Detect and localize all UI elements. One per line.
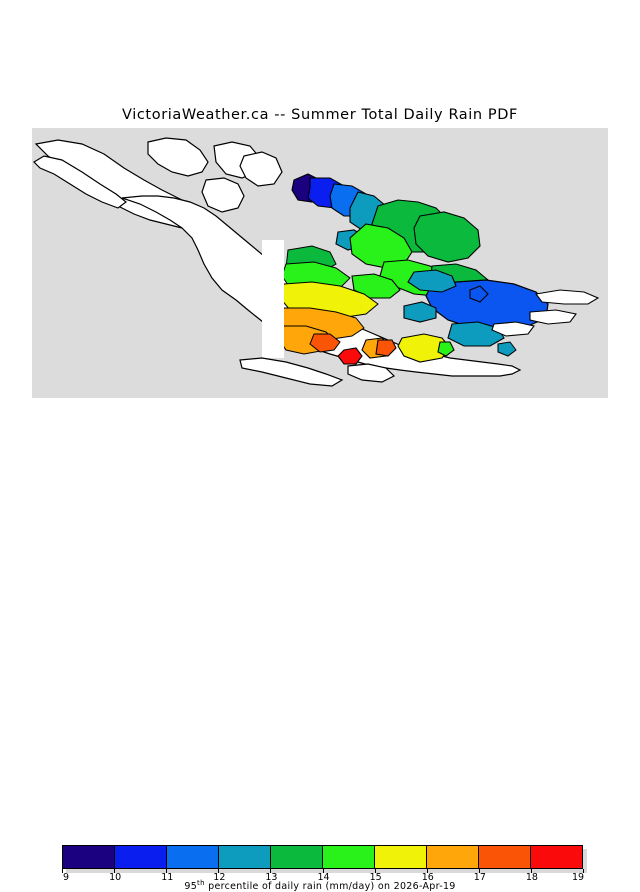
colorbar-segment-11-12[interactable] [167, 846, 219, 868]
colorbar-segment-9-10[interactable] [63, 846, 115, 868]
colorbar-segment-16-17[interactable] [427, 846, 479, 868]
caption-text: percentile of daily rain (mm/day) on 202… [205, 881, 456, 892]
colorbar-segment-10-11[interactable] [115, 846, 167, 868]
caption-percentile-suffix: th [197, 879, 205, 887]
colorbar-segment-17-18[interactable] [479, 846, 531, 868]
colorbar-area: 910111213141516171819 95th percentile of… [0, 420, 640, 480]
colorbar-segment-15-16[interactable] [375, 846, 427, 868]
colorbar-segment-13-14[interactable] [271, 846, 323, 868]
page-title: VictoriaWeather.ca -- Summer Total Daily… [0, 107, 640, 123]
caption-percentile-number: 95 [184, 881, 197, 892]
colorbar-segment-12-13[interactable] [219, 846, 271, 868]
map-canvas [0, 128, 640, 408]
weather-map-page: VictoriaWeather.ca -- Summer Total Daily… [0, 0, 640, 480]
colorbar-segment-18-19[interactable] [531, 846, 582, 868]
colorbar-caption: 95th percentile of daily rain (mm/day) o… [0, 879, 640, 892]
colorbar-segment-14-15[interactable] [323, 846, 375, 868]
colorbar[interactable] [62, 845, 583, 869]
